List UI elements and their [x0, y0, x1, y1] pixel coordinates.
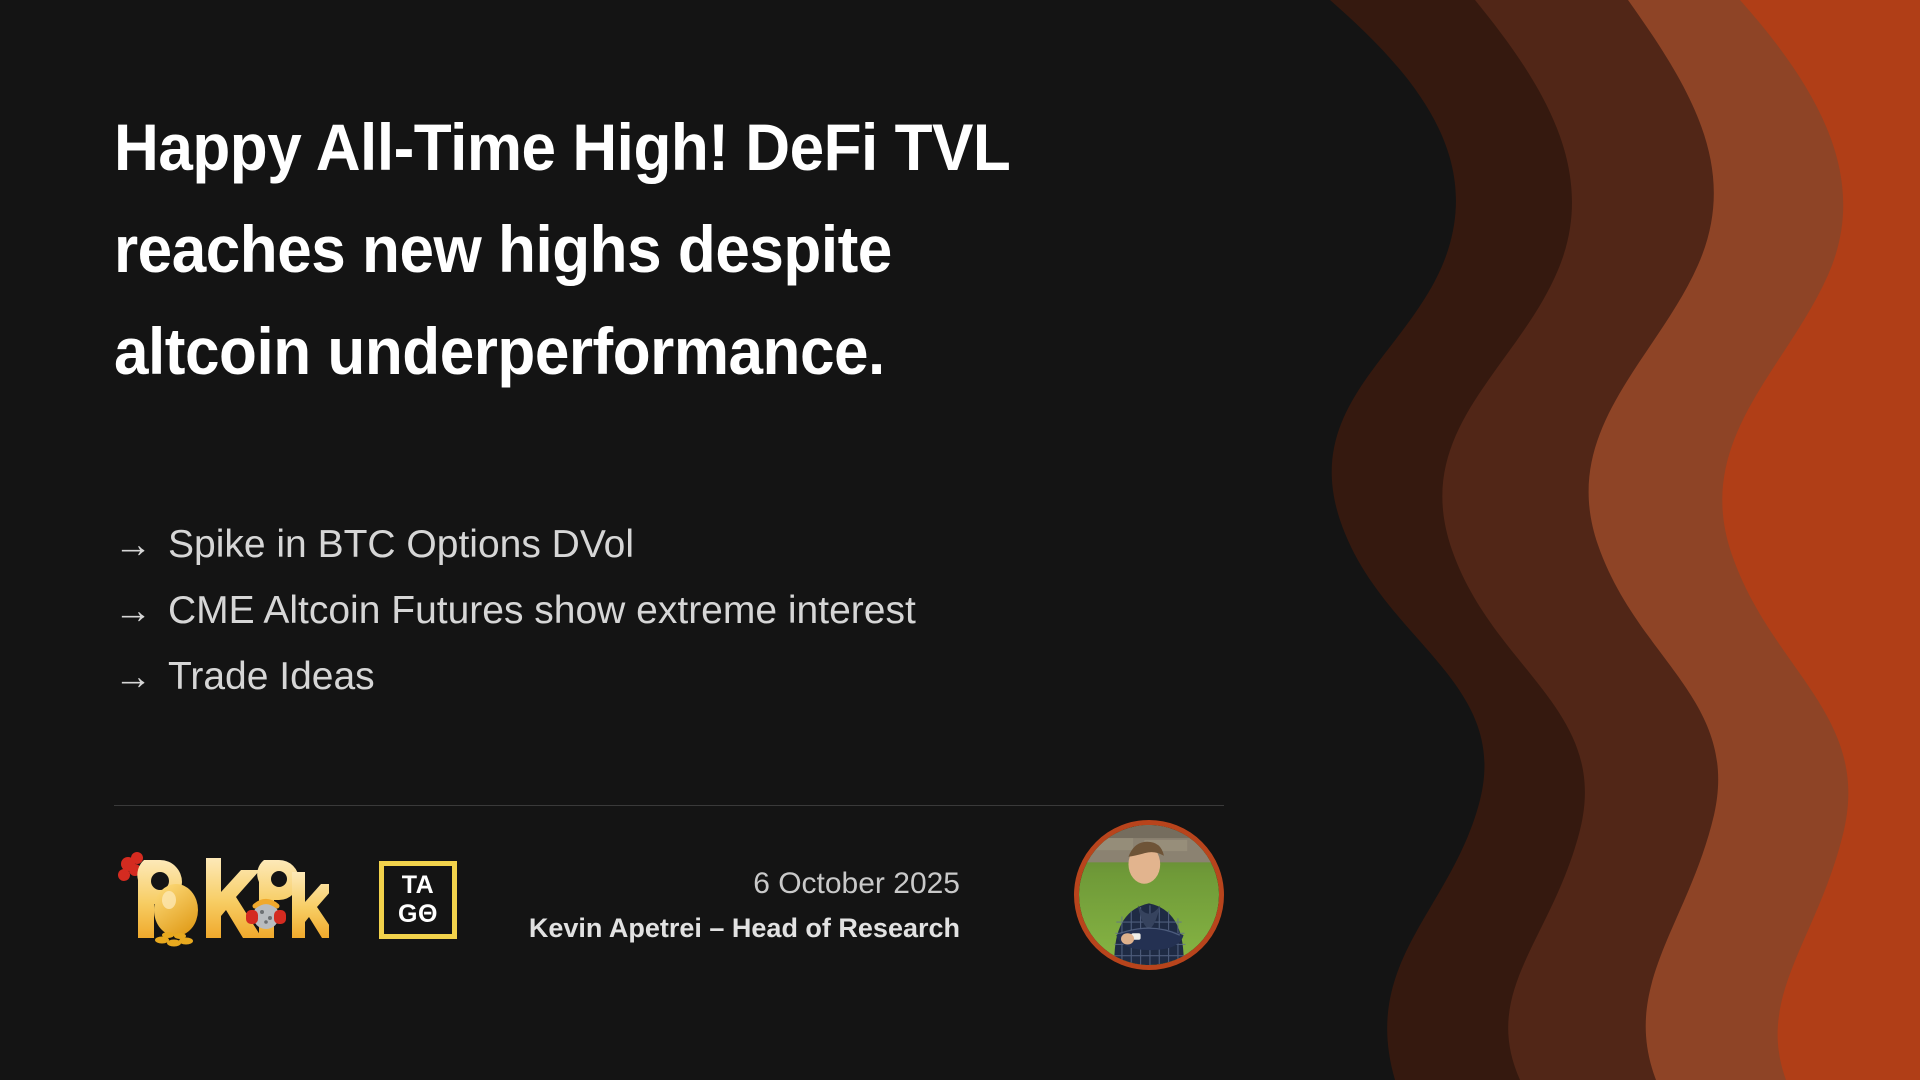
- list-item-label: CME Altcoin Futures show extreme interes…: [168, 578, 916, 644]
- decorative-wave-background: [1180, 0, 1920, 1080]
- arrow-right-icon: →: [114, 512, 152, 578]
- page-title: Happy All-Time High! DeFi TVL reaches ne…: [114, 96, 1251, 402]
- list-item: → Spike in BTC Options DVol: [114, 512, 1224, 578]
- newsletter-slide: Happy All-Time High! DeFi TVL reaches ne…: [0, 0, 1920, 1080]
- tago-logo: TA GΘ: [379, 861, 457, 939]
- footer-divider: [114, 805, 1224, 806]
- list-item: → CME Altcoin Futures show extreme inter…: [114, 578, 1224, 644]
- publish-date: 6 October 2025: [529, 862, 960, 906]
- byline: 6 October 2025 Kevin Apetrei – Head of R…: [529, 862, 960, 950]
- slide-footer: TA GΘ 6 October 2025 Kevin Apetrei – Hea…: [114, 820, 1224, 1000]
- author-name-role: Kevin Apetrei – Head of Research: [529, 906, 960, 950]
- list-item: → Trade Ideas: [114, 644, 1224, 710]
- tago-logo-line-1: TA: [402, 873, 434, 898]
- bullet-list: → Spike in BTC Options DVol → CME Altcoi…: [114, 512, 1224, 710]
- arrow-right-icon: →: [114, 644, 152, 710]
- wave-band-4: [1722, 0, 1920, 1080]
- list-item-label: Trade Ideas: [168, 644, 375, 710]
- logo-group: TA GΘ: [114, 848, 457, 952]
- wave-band-3: [1589, 0, 1920, 1080]
- avatar: [1074, 820, 1224, 970]
- arrow-right-icon: →: [114, 578, 152, 644]
- wave-band-1: [1330, 0, 1920, 1080]
- tago-logo-line-2: GΘ: [398, 902, 438, 927]
- list-item-label: Spike in BTC Options DVol: [168, 512, 634, 578]
- wave-band-2: [1442, 0, 1920, 1080]
- pokpok-logo: [114, 848, 329, 952]
